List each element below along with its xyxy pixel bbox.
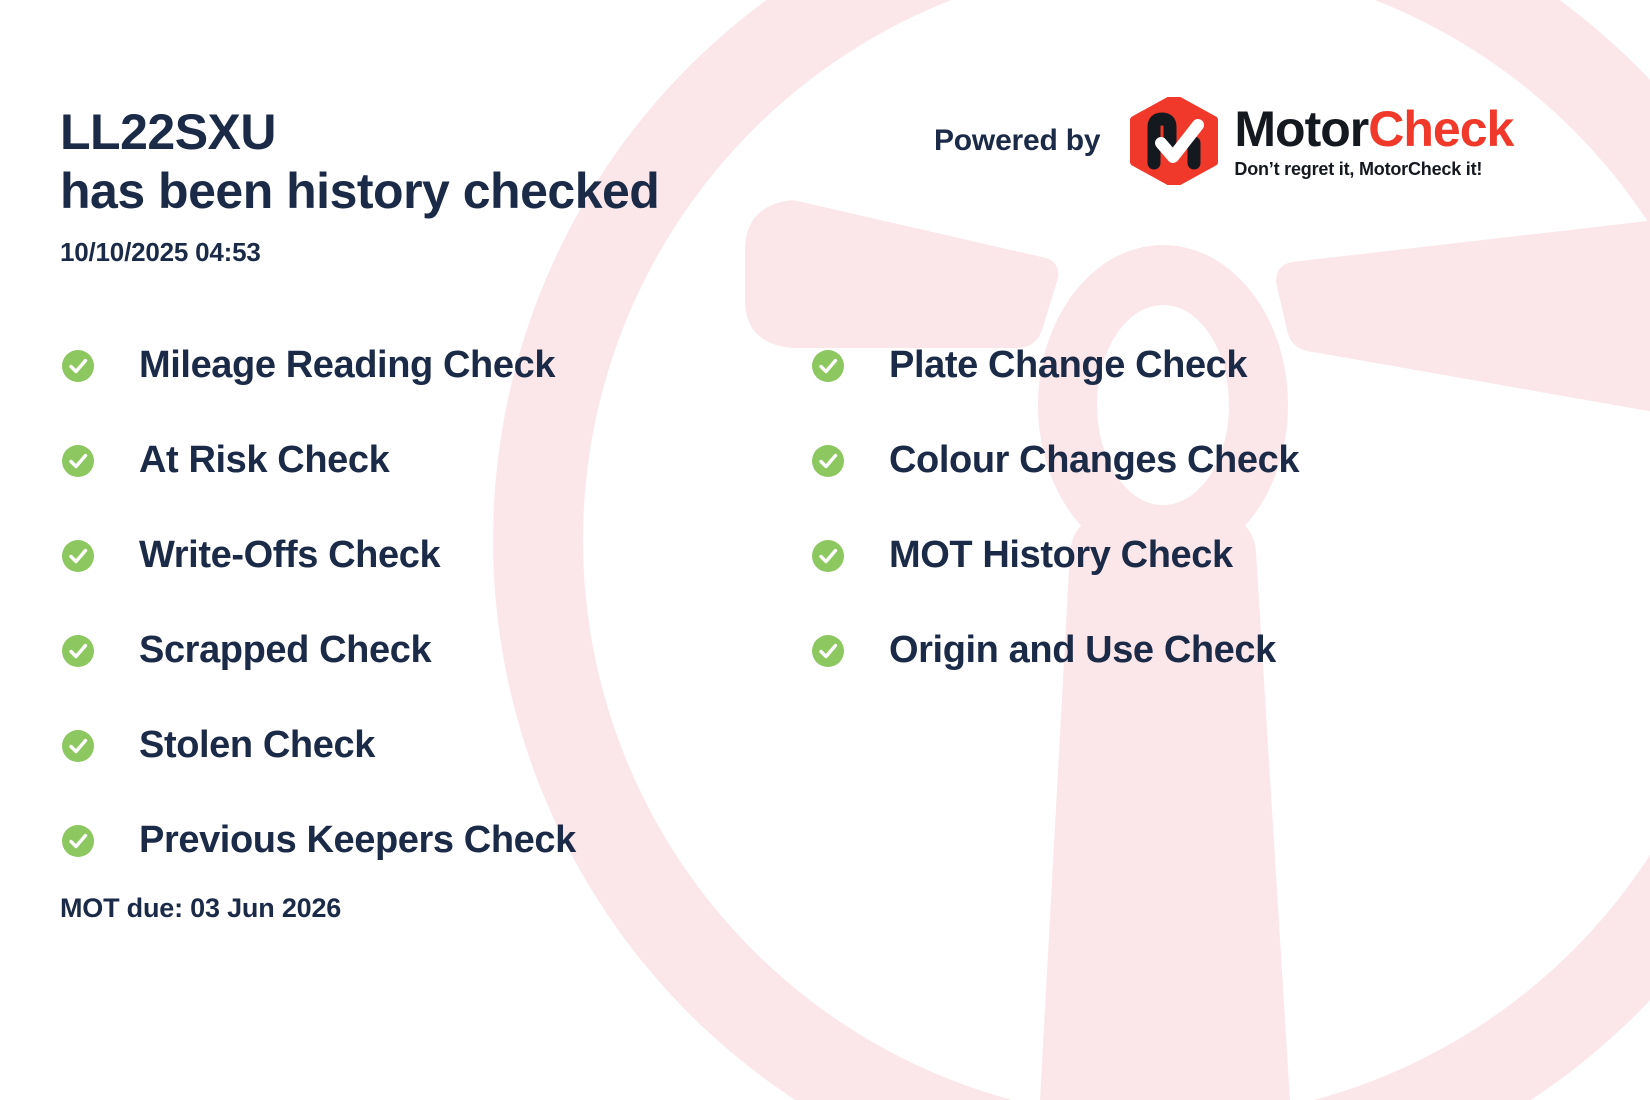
check-item: MOT History Check <box>812 508 1299 603</box>
check-circle-icon <box>62 445 94 477</box>
check-circle-icon <box>62 825 94 857</box>
check-item-label: Plate Change Check <box>889 344 1247 387</box>
check-circle-icon <box>812 445 844 477</box>
check-item-label: Mileage Reading Check <box>139 344 555 387</box>
wordmark-check: Check <box>1368 101 1513 157</box>
check-item-label: At Risk Check <box>139 439 389 482</box>
check-item-label: Colour Changes Check <box>889 439 1299 482</box>
check-item: Plate Change Check <box>812 318 1299 413</box>
check-item-label: Previous Keepers Check <box>139 819 576 862</box>
check-circle-icon <box>812 350 844 382</box>
motorcheck-hexagon-logo-icon <box>1128 97 1220 185</box>
page-title: LL22SXU has been history checked <box>60 103 659 221</box>
check-item: Previous Keepers Check <box>62 793 576 888</box>
mot-due-date: MOT due: 03 Jun 2026 <box>60 893 341 924</box>
check-timestamp: 10/10/2025 04:53 <box>60 237 261 268</box>
check-circle-icon <box>62 540 94 572</box>
checks-left-column: Mileage Reading Check At Risk Check Writ… <box>62 318 576 888</box>
check-item-label: MOT History Check <box>889 534 1233 577</box>
headline-subtitle: has been history checked <box>60 162 659 221</box>
motorcheck-wordmark: MotorCheck Don’t regret it, MotorCheck i… <box>1234 104 1513 178</box>
check-item: Stolen Check <box>62 698 576 793</box>
check-circle-icon <box>62 730 94 762</box>
check-item-label: Origin and Use Check <box>889 629 1276 672</box>
motorcheck-logo[interactable]: MotorCheck Don’t regret it, MotorCheck i… <box>1128 97 1513 185</box>
checks-right-column: Plate Change Check Colour Changes Check … <box>812 318 1299 698</box>
check-circle-icon <box>62 350 94 382</box>
check-item: Origin and Use Check <box>812 603 1299 698</box>
check-item: Colour Changes Check <box>812 413 1299 508</box>
check-item-label: Write-Offs Check <box>139 534 440 577</box>
vehicle-history-check-card: LL22SXU has been history checked 10/10/2… <box>0 0 1650 1100</box>
check-item-label: Stolen Check <box>139 724 375 767</box>
check-circle-icon <box>812 635 844 667</box>
check-circle-icon <box>62 635 94 667</box>
wordmark-motor: Motor <box>1234 101 1368 157</box>
check-circle-icon <box>812 540 844 572</box>
powered-by-label: Powered by <box>934 124 1100 158</box>
powered-by-block: Powered by MotorCheck Don’t regret it, M… <box>934 97 1513 185</box>
brand-tagline: Don’t regret it, MotorCheck it! <box>1234 160 1513 178</box>
check-item-label: Scrapped Check <box>139 629 431 672</box>
registration-plate: LL22SXU <box>60 103 659 162</box>
check-item: Write-Offs Check <box>62 508 576 603</box>
check-item: Mileage Reading Check <box>62 318 576 413</box>
check-item: At Risk Check <box>62 413 576 508</box>
check-item: Scrapped Check <box>62 603 576 698</box>
